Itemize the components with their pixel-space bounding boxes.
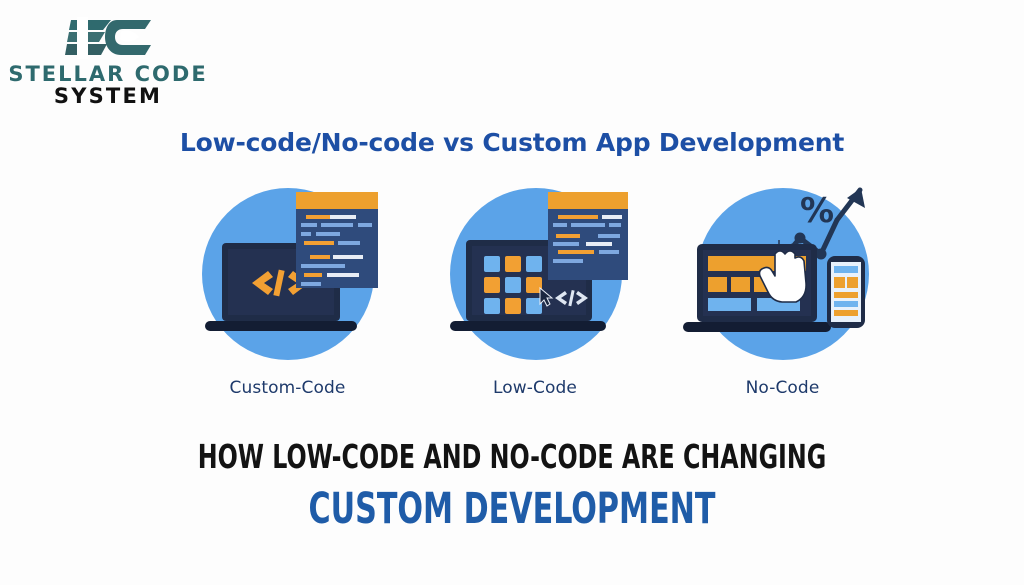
comparison-row: Custom-Code (180, 178, 890, 418)
brand-name-line1: STELLAR CODE (8, 63, 208, 85)
page-title: Low-code/No-code vs Custom App Developme… (0, 128, 1024, 157)
headline-line-1: HOW LOW-CODE AND NO-CODE ARE CHANGING (102, 437, 921, 476)
percent-symbol: % (800, 191, 834, 231)
illustration-low-code (428, 178, 643, 370)
low-code-artwork (428, 178, 643, 370)
comparison-item-custom-code[interactable]: Custom-Code (180, 178, 395, 418)
comparison-item-low-code[interactable]: Low-Code (428, 178, 643, 418)
brand-logo[interactable]: STELLAR CODE SYSTEM (8, 14, 208, 107)
headline: HOW LOW-CODE AND NO-CODE ARE CHANGING CU… (0, 437, 1024, 534)
label-no-code: No-Code (675, 378, 890, 398)
illustration-no-code: % (675, 178, 890, 370)
illustration-custom-code (180, 178, 395, 370)
brand-name-line2: SYSTEM (8, 85, 208, 107)
sc-monogram-icon (65, 14, 151, 62)
no-code-artwork: % (675, 178, 890, 370)
custom-code-artwork (180, 178, 395, 370)
label-low-code: Low-Code (428, 378, 643, 398)
headline-line-2: CUSTOM DEVELOPMENT (113, 484, 912, 534)
comparison-item-no-code[interactable]: % (675, 178, 890, 418)
label-custom-code: Custom-Code (180, 378, 395, 398)
